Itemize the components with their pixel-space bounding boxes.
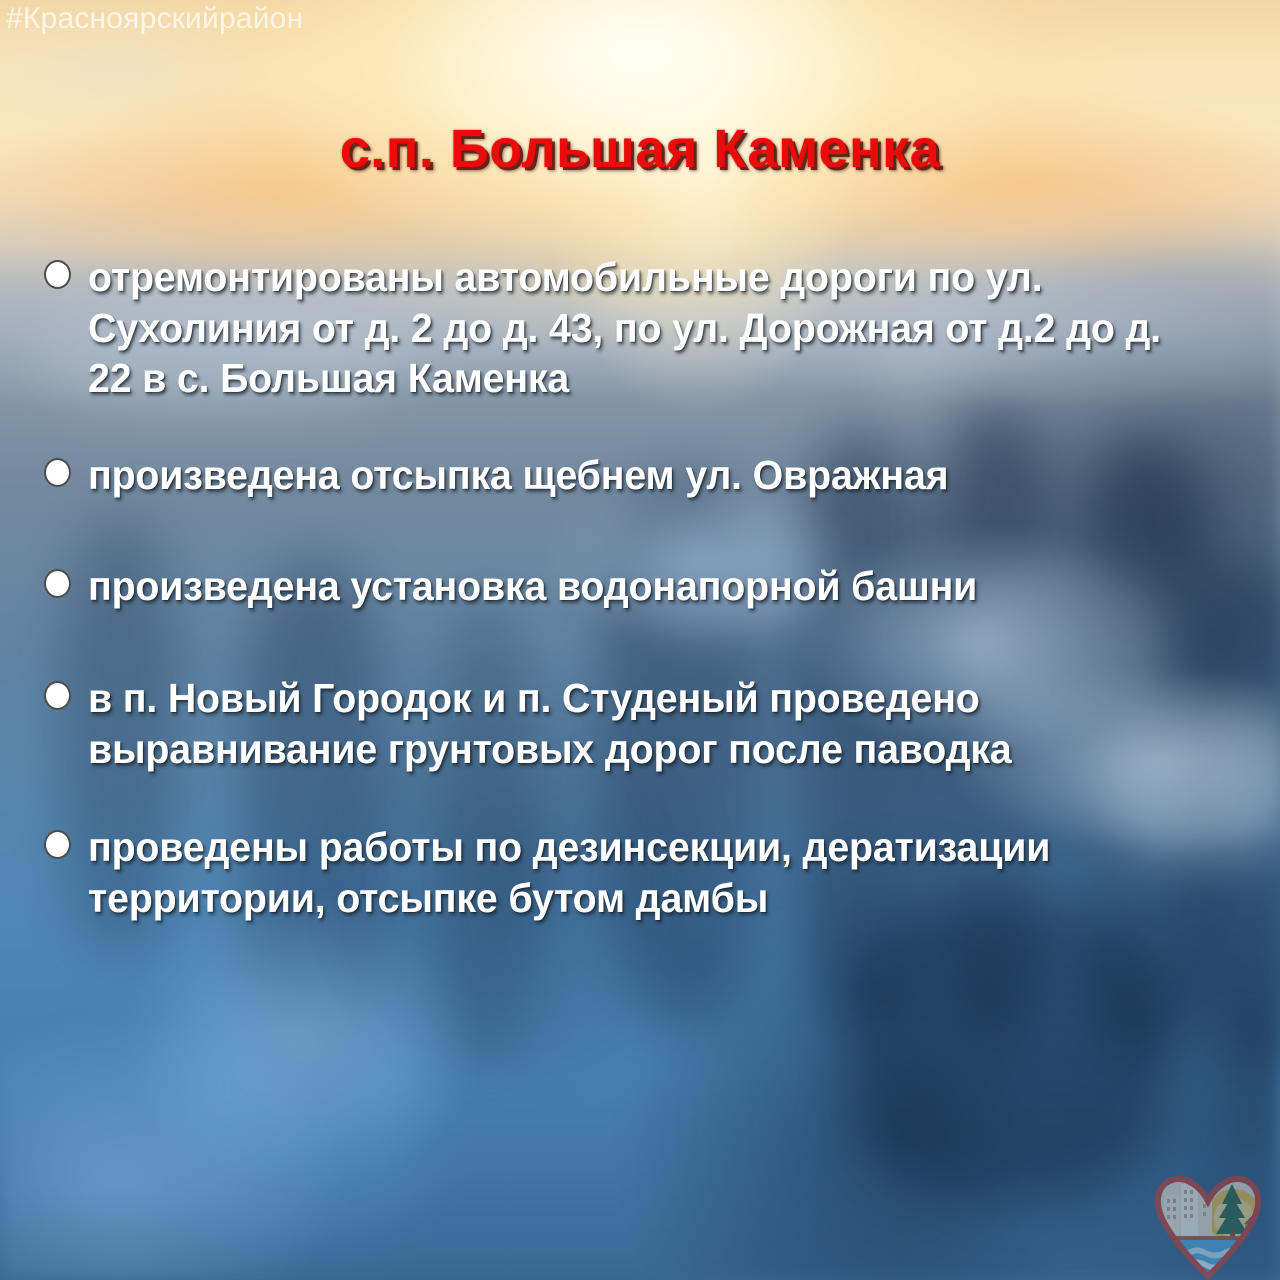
- bullet-dot-icon: [44, 260, 71, 289]
- bullet-text: в п. Новый Городок и п. Студеный проведе…: [88, 673, 1026, 774]
- bullet-text: проведены работы по дезинсекции, дератиз…: [88, 822, 1127, 923]
- hashtag-label: #Красноярскийрайон: [6, 2, 303, 36]
- slide-content: #Красноярскийрайон с.п. Большая Каменка …: [0, 0, 1280, 1280]
- list-item: произведена отсыпка щебнем ул. Овражная: [0, 450, 1280, 501]
- list-item: произведена установка водонапорной башни: [0, 561, 1280, 612]
- list-item: проведены работы по дезинсекции, дератиз…: [0, 822, 1280, 923]
- district-logo-icon: [1152, 1172, 1264, 1280]
- bullet-text: произведена установка водонапорной башни: [88, 561, 1055, 612]
- bullet-dot-icon: [44, 830, 71, 859]
- list-item: в п. Новый Городок и п. Студеный проведе…: [0, 673, 1280, 774]
- bullet-dot-icon: [44, 569, 71, 598]
- bullet-list: отремонтированы автомобильные дороги по …: [0, 252, 1280, 924]
- page-title: с.п. Большая Каменка: [0, 118, 1280, 180]
- bullet-dot-icon: [44, 458, 71, 487]
- bullet-dot-icon: [44, 681, 71, 710]
- slide-canvas: #Красноярскийрайон с.п. Большая Каменка …: [0, 0, 1280, 1280]
- list-item: отремонтированы автомобильные дороги по …: [0, 252, 1280, 404]
- bullet-text: произведена отсыпка щебнем ул. Овражная: [88, 450, 1194, 501]
- bullet-text: отремонтированы автомобильные дороги по …: [88, 252, 1194, 404]
